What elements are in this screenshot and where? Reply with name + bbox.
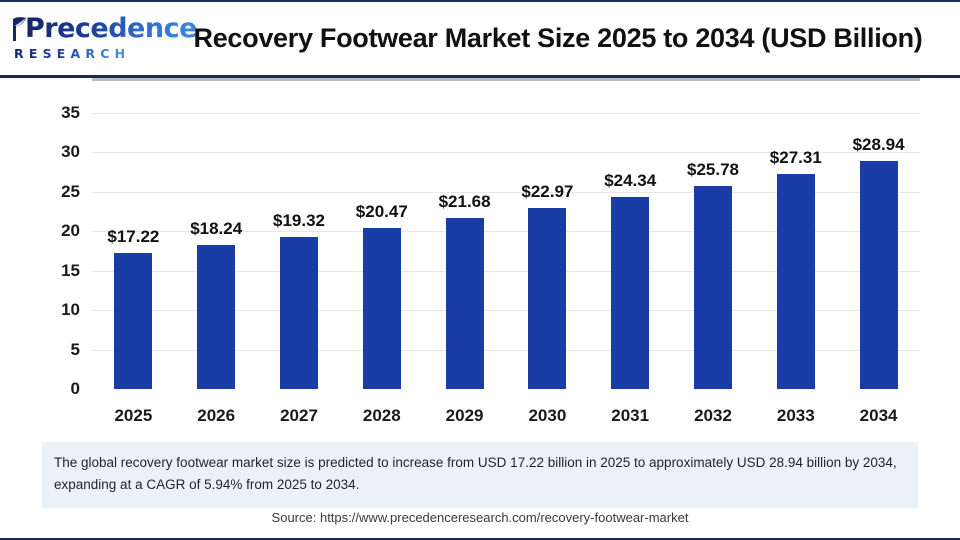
y-tick-label: 30 [34,142,80,162]
page-title: Recovery Footwear Market Size 2025 to 20… [170,23,960,54]
bar [446,218,484,389]
y-tick-label: 0 [34,379,80,399]
bar [777,174,815,389]
y-tick-label: 10 [34,300,80,320]
bar [280,237,318,389]
bar-value-label: $28.94 [824,135,934,155]
gridline [92,113,920,114]
bar-chart: 05101520253035 $17.22$18.24$19.32$20.47$… [0,78,960,430]
bar [528,208,566,389]
source-line: Source: https://www.precedenceresearch.c… [0,510,960,525]
bar [114,253,152,389]
bar [197,245,235,389]
bar [860,161,898,389]
caption-box: The global recovery footwear market size… [42,442,918,508]
chart-infographic-frame: Precedence RESEARCH Recovery Footwear Ma… [0,0,960,540]
y-tick-label: 25 [34,182,80,202]
y-tick-label: 15 [34,261,80,281]
y-tick-label: 5 [34,340,80,360]
y-tick-label: 35 [34,103,80,123]
x-axis-baseline [92,78,920,81]
logo-subtext: RESEARCH [14,46,130,61]
leaf-p-icon [12,16,27,42]
y-tick-label: 20 [34,221,80,241]
x-tick-label: 2034 [824,406,934,426]
precedence-research-logo[interactable]: Precedence RESEARCH [0,16,170,61]
bar [363,228,401,389]
bar [611,197,649,389]
header-bar: Precedence RESEARCH Recovery Footwear Ma… [0,2,960,78]
bar [694,186,732,389]
